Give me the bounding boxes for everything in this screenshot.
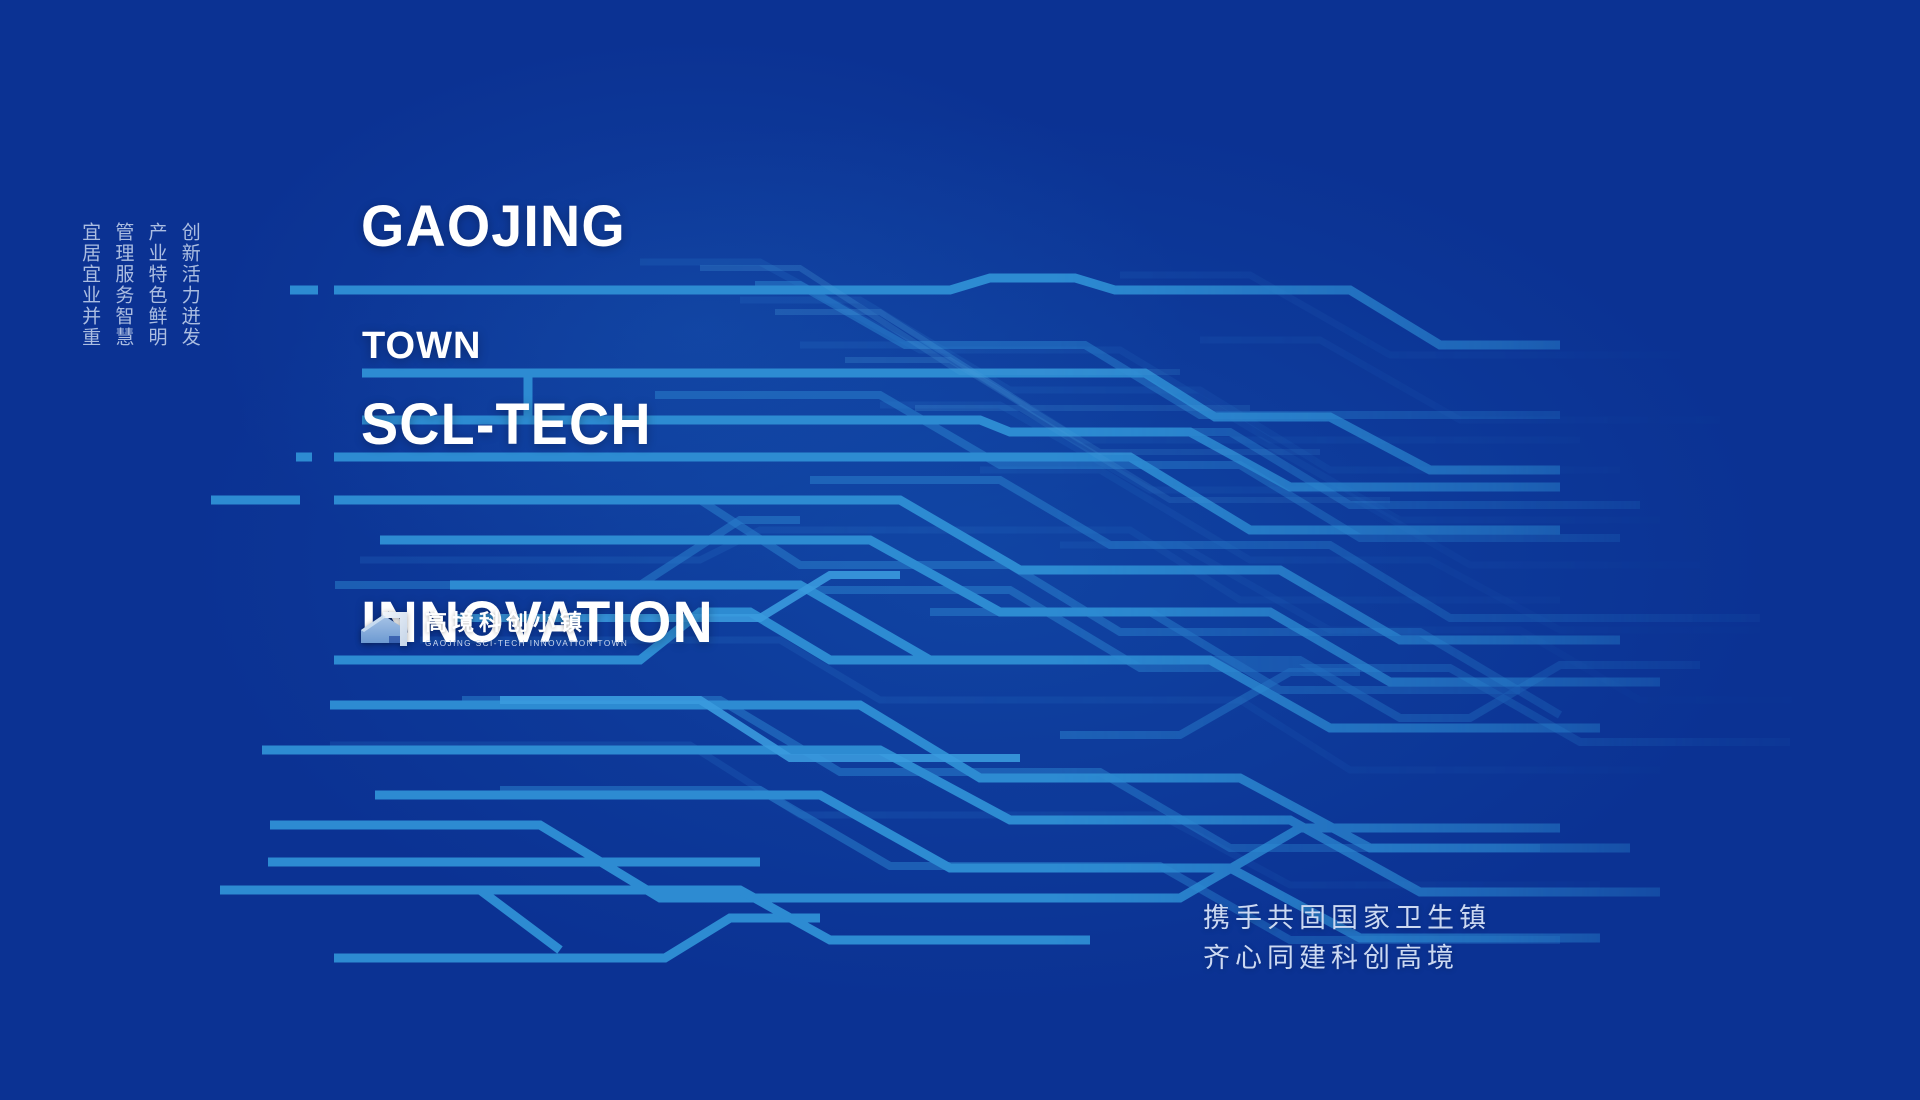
vertical-tagline-column-2: 产业特色鲜明 bbox=[144, 222, 167, 348]
house-building-icon bbox=[358, 607, 414, 652]
headline-line-4: TOWN bbox=[362, 325, 481, 368]
slogan-line-2: 齐心同建科创高境 bbox=[1203, 938, 1491, 978]
circuit-line-artwork bbox=[0, 0, 1920, 1100]
logo-name-cn: 高境科创小镇 bbox=[425, 611, 628, 635]
vertical-tagline-column-3: 管理服务智慧 bbox=[111, 222, 134, 348]
vertical-tagline-column-1: 创新活力迸发 bbox=[178, 222, 201, 348]
brand-logo: 高境科创小镇 GAOJING SCI-TECH INNOVATION TOWN bbox=[358, 607, 628, 652]
page-title: GAOJING SCL-TECH INNOVATION bbox=[361, 62, 729, 788]
logo-name-en: GAOJING SCI-TECH INNOVATION TOWN bbox=[425, 639, 628, 648]
headline-line-1: GAOJING bbox=[361, 194, 714, 260]
vertical-tagline-column-4: 宜居宜业并重 bbox=[78, 222, 101, 348]
slogan-line-1: 携手共固国家卫生镇 bbox=[1203, 898, 1491, 938]
vertical-tagline: 创新活力迸发 产业特色鲜明 管理服务智慧 宜居宜业并重 bbox=[78, 222, 201, 348]
headline-line-2: SCL-TECH bbox=[361, 392, 714, 458]
slogan: 携手共固国家卫生镇 齐心同建科创高境 bbox=[1203, 898, 1491, 978]
poster-canvas: GAOJING SCL-TECH INNOVATION TOWN 创新活力迸发 … bbox=[0, 0, 1920, 1100]
background-glow bbox=[0, 0, 1920, 1100]
